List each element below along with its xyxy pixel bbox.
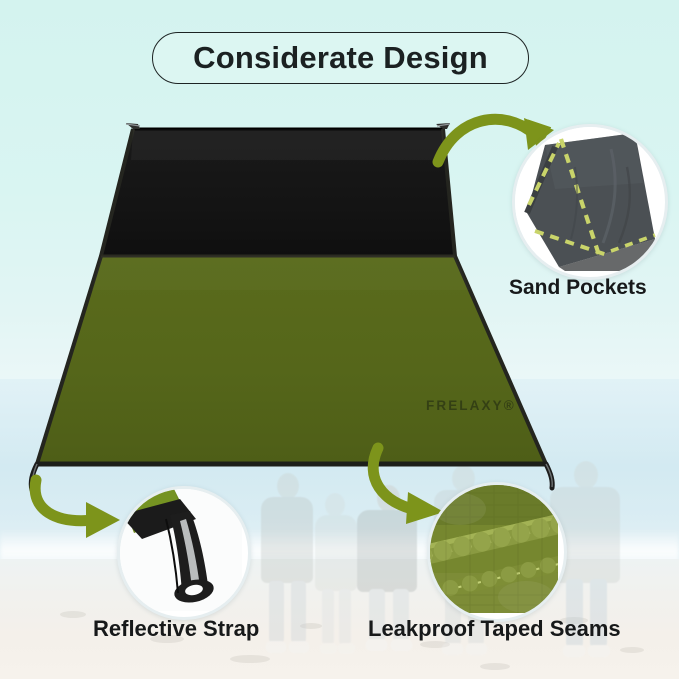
person-silhouette xyxy=(255,473,317,661)
label-reflective-strap: Reflective Strap xyxy=(93,616,259,642)
brand-logo-text: FRELAXY® xyxy=(426,398,516,413)
taped-seam-photo xyxy=(430,485,558,613)
page-title: Considerate Design xyxy=(193,40,488,76)
callout-sand-pockets[interactable] xyxy=(512,124,668,280)
brand-logo: FRELAXY® xyxy=(426,398,516,413)
callout-taped-seams[interactable] xyxy=(427,482,567,622)
callout-reflective-strap[interactable] xyxy=(117,486,251,620)
mat-corner-tab-top-left xyxy=(126,123,140,129)
sand-pocket-photo xyxy=(515,127,659,271)
label-taped-seams: Leakproof Taped Seams xyxy=(368,616,621,642)
mat-black-panel xyxy=(101,129,455,256)
reflective-strap-photo xyxy=(120,489,242,611)
infographic-canvas: Considerate Design xyxy=(0,0,679,679)
page-title-box: Considerate Design xyxy=(152,32,529,84)
label-sand-pockets: Sand Pockets xyxy=(509,276,647,300)
